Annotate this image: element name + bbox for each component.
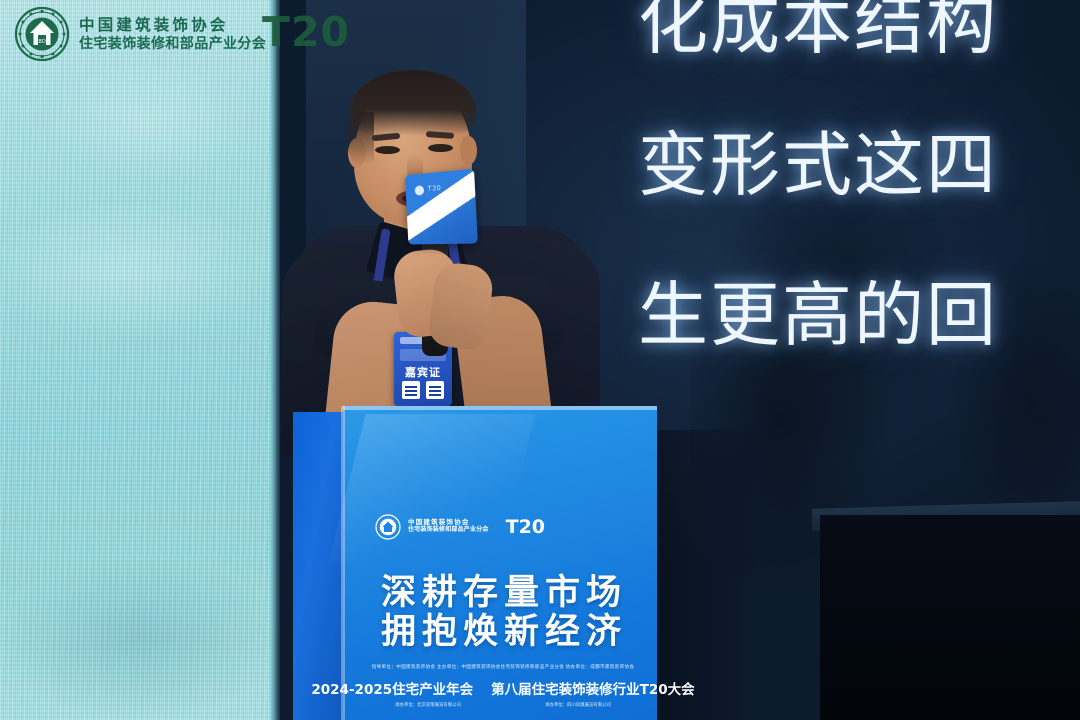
svg-text:CBDA: CBDA [35, 39, 50, 45]
t20-logo-header: T20 [262, 8, 350, 56]
podium-slogan: 深耕存量市场 拥抱焕新经济 [359, 574, 649, 652]
podium-t20-logo: T20 [506, 516, 545, 538]
mic-flag-text: T20 [427, 185, 441, 193]
screen-text-line-1: 化成本结构 [638, 0, 998, 58]
podium-organizers: 指导单位：中国建筑装饰协会 主办单位：中国建筑装饰协会住宅装饰装修和部品产业分会… [353, 664, 653, 670]
panel-highlight-top [40, 60, 260, 180]
podium-logo-line-2: 住宅装饰装修和部品产业分会 [408, 527, 489, 535]
speaker-eye-left [375, 146, 400, 154]
speaker-hand-right [427, 261, 495, 351]
badge-title: 嘉宾证 [394, 364, 452, 380]
podium-event-title-right: 第八届住宅装饰装修行业T20大会 [491, 678, 695, 698]
podium-association-name: 中国建筑装饰协会 住宅装饰装修和部品产业分会 [408, 519, 489, 535]
podium: 中国建筑装饰协会 住宅装饰装修和部品产业分会 T20 深耕存量市场 拥抱焕新经济… [293, 406, 657, 720]
mic-flag-logo-icon [415, 185, 425, 195]
cbda-seal-icon: CBDA [14, 6, 70, 62]
microphone-flag: T20 [405, 169, 478, 245]
podium-slogan-line-1: 深耕存量市场 [359, 574, 649, 613]
stage-riser [820, 515, 1080, 720]
speaker-hair-side [348, 112, 374, 164]
podium-cast-shadow [640, 430, 760, 720]
left-led-panel [0, 0, 276, 720]
speaker-eye-right [428, 144, 453, 152]
speaker-ear-right [460, 136, 477, 165]
panel-shade-bottom [0, 560, 280, 720]
association-name: 中国建筑装饰协会 住宅装饰装修和部品产业分会 [79, 17, 266, 52]
podium-footer-credits: 承办单位：北京双策展览有限公司 承办单位：四川凤凰展览有限公司 [353, 702, 653, 708]
badge-qr-left-icon [402, 381, 420, 399]
association-line-1: 中国建筑装饰协会 [79, 17, 266, 35]
podium-logo-group: 中国建筑装饰协会 住宅装饰装修和部品产业分会 T20 [375, 514, 635, 540]
screen-text-line-3: 生更高的回 [638, 280, 998, 350]
association-line-2: 住宅装饰装修和部品产业分会 [79, 35, 266, 52]
podium-slogan-line-2: 拥抱焕新经济 [359, 613, 649, 652]
podium-event-titles: 2024-2025住宅产业年会 第八届住宅装饰装修行业T20大会 [349, 678, 657, 698]
association-brand: CBDA 中国建筑装饰协会 住宅装饰装修和部品产业分会 [14, 6, 266, 62]
podium-event-title-left: 2024-2025住宅产业年会 [311, 678, 473, 698]
screen-text-line-2: 变形式这四 [638, 130, 998, 200]
podium-side-panel [293, 412, 345, 720]
podium-footer-left: 承办单位：北京双策展览有限公司 [395, 702, 461, 708]
podium-cbda-seal-icon [375, 514, 401, 540]
podium-footer-right: 承办单位：四川凤凰展览有限公司 [545, 702, 611, 708]
badge-qr-right-icon [426, 381, 444, 399]
photo-stage: 化成本结构 变形式这四 生更高的回 [0, 0, 1080, 720]
panel-highlight-mid [0, 200, 280, 340]
